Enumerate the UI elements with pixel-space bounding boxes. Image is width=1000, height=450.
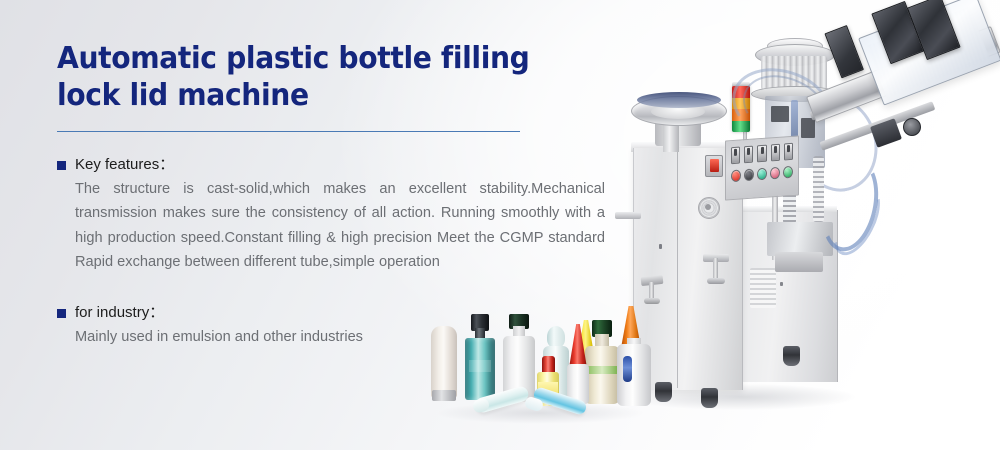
bowl-feeder-rim [637,92,721,108]
toggle-switch-icon [731,147,740,165]
feature-section: Key features： The structure is cast-soli… [57,155,605,274]
toggle-switch-icon [771,144,780,162]
section-heading-for-industry: for industry： [75,303,164,323]
text-column: Automatic plastic bottle filling lock li… [57,40,605,114]
bullet-square-icon [57,161,66,170]
leveling-foot-pad [707,278,725,284]
filling-machine-image [615,0,1000,450]
blue-stripe-label [623,356,632,382]
toggle-switch-icon [784,143,793,161]
title-divider [57,131,520,132]
bottle-label [587,366,617,374]
section-heading-key-features: Key features： [75,155,174,175]
bottle-label [469,360,491,372]
roll-on-applicator [547,326,565,348]
beige-lotion-bottle [585,346,619,404]
emergency-stop-switch-icon [705,155,723,177]
machine-caster-wheel [783,346,800,366]
bullet-square-icon [57,309,66,318]
machine-panel-seam [677,150,678,388]
tube-cap [432,390,456,401]
machine-caster-wheel [701,388,718,408]
toggle-switch-icon [757,145,766,163]
push-button-green-icon [757,168,767,181]
machine-screw [659,244,662,249]
machine-fan-hub [705,204,711,210]
section-body-key-features: The structure is cast-solid,which makes … [75,177,605,274]
push-button-black-icon [744,169,754,182]
bullet-row-key-features: Key features： [57,155,605,175]
machine-side-bracket [615,212,641,219]
machine-caster-wheel [655,382,672,402]
push-button-red-icon [731,169,741,182]
conveyor-wheel [903,118,921,136]
toggle-switch-icon [744,146,753,164]
page-title: Automatic plastic bottle filling lock li… [57,40,572,114]
cream-squeeze-tube [431,326,457,398]
lower-mechanism-base [775,252,823,272]
machine-screw [780,282,783,286]
leveling-foot-stem [713,258,718,280]
push-button-green-icon [783,166,793,179]
product-bottles-image [425,298,655,430]
product-banner: Automatic plastic bottle filling lock li… [0,0,1000,450]
machine-vent-louvers [750,268,776,308]
control-panel-switch-row [731,143,793,163]
push-button-pink-icon [770,167,780,180]
